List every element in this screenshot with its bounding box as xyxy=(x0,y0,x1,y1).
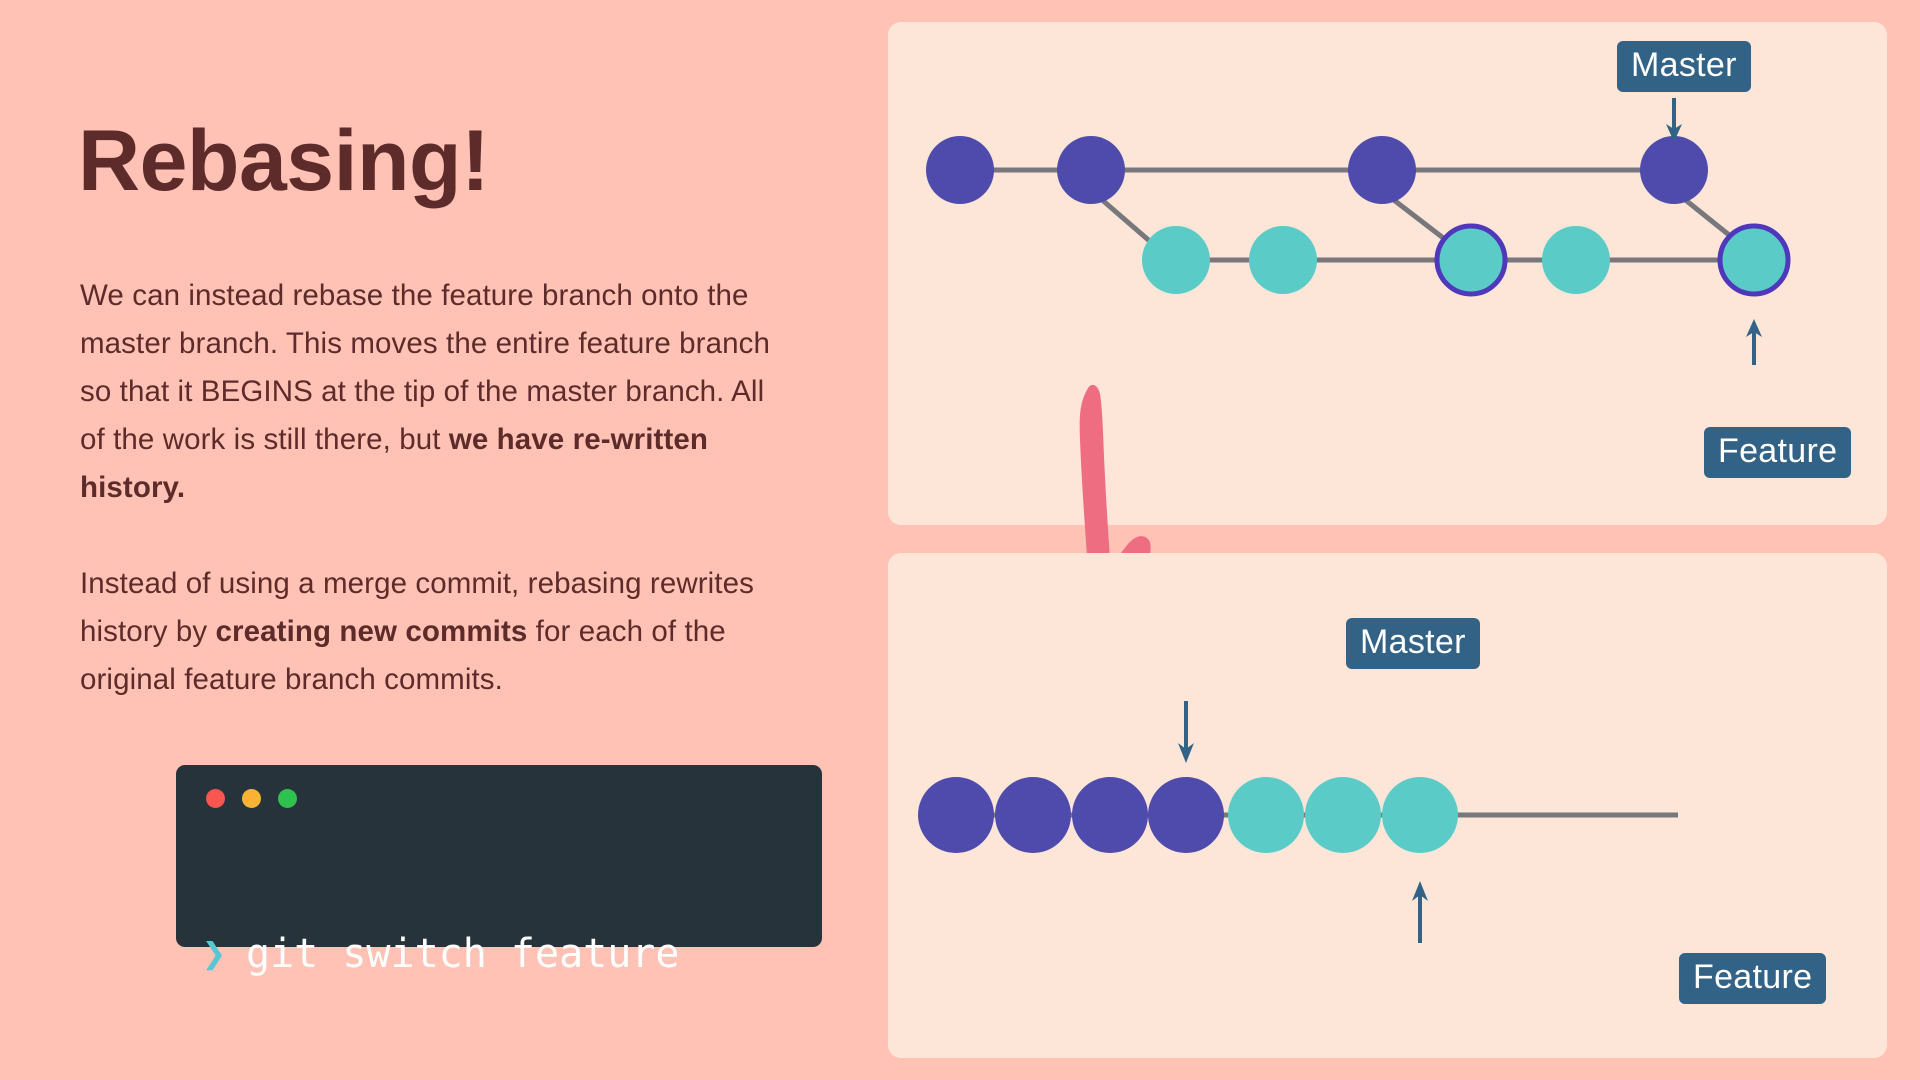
master-commit-node[interactable] xyxy=(1057,136,1125,204)
feature-pointer-arrow xyxy=(1746,319,1762,365)
feature-pointer-arrow xyxy=(1412,881,1428,943)
branch-label-feature-after[interactable]: Feature xyxy=(1679,953,1826,1004)
master-commit-node[interactable] xyxy=(995,777,1071,853)
terminal-close-icon[interactable] xyxy=(206,789,225,808)
page-title: Rebasing! xyxy=(78,118,489,204)
terminal-window[interactable]: ❯ git switch feature ❯ git rebase master xyxy=(176,765,822,947)
paragraph-new-commits: Instead of using a merge commit, rebasin… xyxy=(80,560,780,704)
paragraph-rebase-explanation: We can instead rebase the feature branch… xyxy=(80,272,780,512)
slide-root: Rebasing! We can instead rebase the feat… xyxy=(0,0,1920,1080)
branch-label-feature-before[interactable]: Feature xyxy=(1704,427,1851,478)
terminal-line: ❯ git switch feature xyxy=(202,929,679,980)
master-commit-node[interactable] xyxy=(1348,136,1416,204)
feature-commit-node[interactable] xyxy=(1542,226,1610,294)
feature-commit-node-tip-highlighted[interactable] xyxy=(1720,226,1788,294)
master-commit-node[interactable] xyxy=(926,136,994,204)
feature-commit-node-tip[interactable] xyxy=(1382,777,1458,853)
feature-commit-node[interactable] xyxy=(1305,777,1381,853)
content-column: Rebasing! We can instead rebase the feat… xyxy=(78,0,818,1080)
master-commit-nodes xyxy=(918,777,1224,853)
master-pointer-arrow xyxy=(1666,98,1682,142)
terminal-maximize-icon[interactable] xyxy=(278,789,297,808)
branch-label-master-after[interactable]: Master xyxy=(1346,618,1480,669)
feature-commit-node[interactable] xyxy=(1228,777,1304,853)
paragraph2-bold-emphasis: creating new commits xyxy=(216,615,528,648)
terminal-command-1: git switch feature xyxy=(246,929,679,980)
terminal-traffic-lights xyxy=(206,789,297,808)
branch-label-master-before[interactable]: Master xyxy=(1617,41,1751,92)
master-commit-node[interactable] xyxy=(918,777,994,853)
feature-commit-node[interactable] xyxy=(1249,226,1317,294)
terminal-output: ❯ git switch feature ❯ git rebase master xyxy=(202,827,679,1080)
master-commit-node-tip[interactable] xyxy=(1148,777,1224,853)
feature-commit-node-highlighted[interactable] xyxy=(1437,226,1505,294)
master-commit-node[interactable] xyxy=(1072,777,1148,853)
feature-commit-node[interactable] xyxy=(1142,226,1210,294)
prompt-chevron-icon: ❯ xyxy=(202,929,246,980)
terminal-minimize-icon[interactable] xyxy=(242,789,261,808)
feature-commit-nodes xyxy=(1228,777,1458,853)
master-commit-node-tip[interactable] xyxy=(1640,136,1708,204)
master-pointer-arrow xyxy=(1178,701,1194,763)
